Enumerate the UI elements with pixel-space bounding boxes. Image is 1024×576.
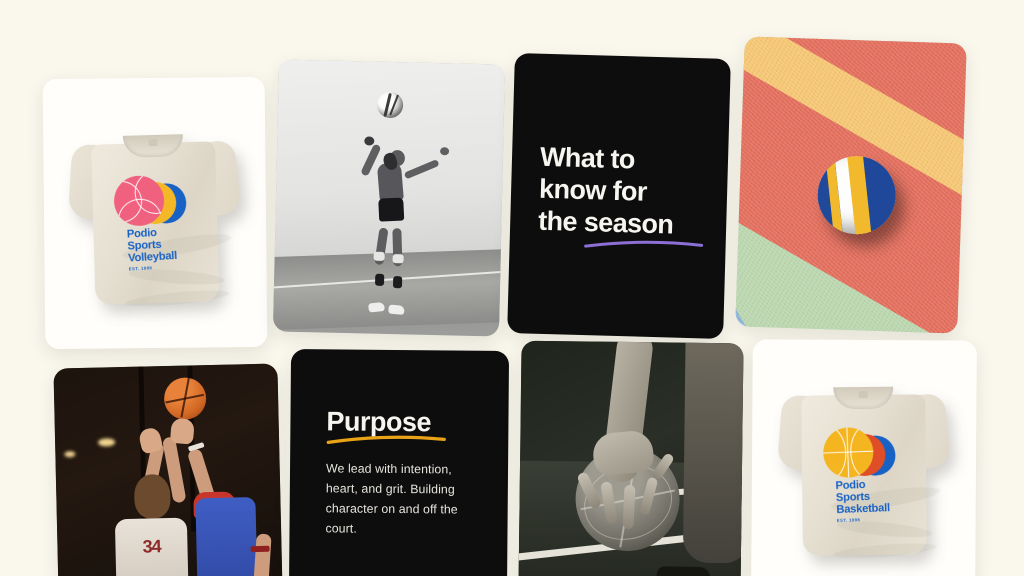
photo-painted-court — [735, 36, 966, 333]
card-tee-volleyball[interactable]: Podio Sports Volleyball EST. 1998 — [43, 77, 268, 349]
knee-pad-right — [392, 254, 403, 263]
player-leg — [683, 343, 743, 564]
purpose-title-wrap: Purpose — [326, 407, 446, 445]
photo-volleyball-serve — [273, 59, 505, 336]
headline-emphasis: season — [583, 207, 704, 251]
logo-ball-cluster — [816, 425, 910, 478]
card-photo-court-volleyball[interactable] — [735, 36, 966, 333]
player-hand — [170, 418, 195, 445]
volleyball-on-court — [816, 155, 897, 236]
player-arm-right — [403, 159, 439, 179]
sock-left — [375, 274, 384, 286]
podio-basketball-logo: Podio Sports Basketball EST. 1998 — [816, 425, 911, 523]
fabric-fold — [125, 287, 230, 309]
volleyball-in-air — [377, 92, 404, 119]
jersey-number: 34 — [142, 536, 161, 557]
knee-pad-left — [374, 252, 385, 261]
card-photo-basketball-game[interactable]: 34 — [53, 363, 282, 576]
tshirt-graphic: Podio Sports Basketball EST. 1998 — [779, 374, 949, 556]
gym-floor — [273, 248, 505, 331]
podio-volleyball-logo: Podio Sports Volleyball EST. 1998 — [107, 173, 204, 273]
headline-text: What to know for the season — [538, 142, 715, 251]
blue-jersey — [195, 497, 257, 576]
arena-light — [98, 438, 115, 446]
card-photo-volleyball-serve[interactable] — [273, 59, 505, 336]
arena-light — [64, 451, 75, 457]
headline-line-1: What to — [540, 142, 715, 179]
logo-ball-front — [822, 427, 874, 479]
bystander-arm — [253, 534, 272, 576]
headline-line-3-prefix: the — [538, 205, 584, 236]
logo-ball-cluster — [107, 173, 202, 228]
logo-wordmark: Podio Sports Volleyball — [110, 225, 204, 266]
logo-ball-front — [113, 175, 166, 228]
tshirt-graphic: Podio Sports Volleyball EST. 1998 — [69, 121, 242, 306]
logo-wordmark: Podio Sports Basketball — [818, 477, 911, 517]
moodboard-canvas: Podio Sports Volleyball EST. 1998 — [0, 0, 1024, 576]
purpose-block: Purpose We lead with intention, heart, a… — [325, 407, 494, 540]
product-stage: Podio Sports Volleyball EST. 1998 — [43, 77, 268, 349]
fabric-fold — [833, 541, 938, 561]
neck-tag — [859, 391, 868, 398]
player-shorts — [378, 197, 404, 221]
player-hand-right — [440, 147, 449, 155]
palm — [592, 429, 656, 476]
player-hand-left — [364, 136, 374, 145]
shoe-left — [368, 302, 385, 313]
player-shoe — [656, 566, 710, 576]
card-photo-hand-on-ball[interactable] — [518, 341, 743, 576]
card-purpose[interactable]: Purpose We lead with intention, heart, a… — [289, 349, 509, 576]
photo-palming-basketball — [518, 341, 743, 576]
purple-underline-swoosh — [583, 238, 703, 251]
card-headline[interactable]: What to know for the season — [507, 53, 731, 339]
headline-line-2: know for — [539, 174, 714, 211]
bystander-wristband — [250, 545, 269, 551]
purpose-body-text: We lead with intention, heart, and grit.… — [325, 459, 486, 541]
headline-line-3: the season — [538, 205, 713, 251]
purpose-title: Purpose — [326, 407, 446, 436]
photo-jump-ball: 34 — [53, 363, 282, 576]
neck-tag — [148, 139, 157, 146]
basketball-in-air — [163, 377, 206, 420]
headline-emphasis-text: season — [583, 207, 673, 239]
sock-right — [393, 276, 402, 288]
headline-block: What to know for the season — [538, 142, 715, 251]
player-head — [134, 474, 171, 519]
product-stage: Podio Sports Basketball EST. 1998 — [751, 339, 977, 576]
card-tee-basketball[interactable]: Podio Sports Basketball EST. 1998 — [751, 339, 977, 576]
